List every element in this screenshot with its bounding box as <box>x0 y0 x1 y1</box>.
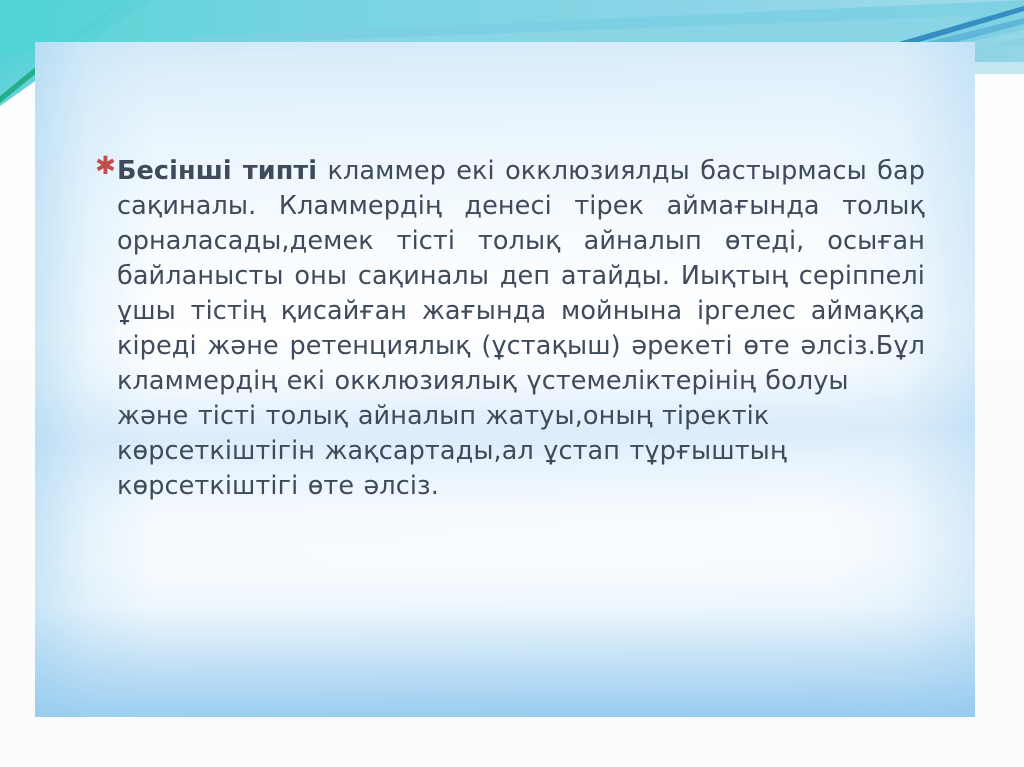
lead-term: Бесінші типті <box>117 156 317 186</box>
slide-canvas: ✱ Бесінші типті кламмер екі окклюзиялды … <box>0 0 1024 767</box>
slide-content-panel: ✱ Бесінші типті кламмер екі окклюзиялды … <box>35 42 975 717</box>
asterisk-bullet-icon: ✱ <box>95 154 116 179</box>
paragraph-main: Бесінші типті кламмер екі окклюзиялды ба… <box>117 154 925 399</box>
panel-bottom-tint <box>35 517 975 717</box>
slide-body-text: ✱ Бесінші типті кламмер екі окклюзиялды … <box>95 154 925 504</box>
bullet-list-item: ✱ Бесінші типті кламмер екі окклюзиялды … <box>95 154 925 504</box>
paragraph-tail: және тісті толық айналып жатуы,оның тіре… <box>117 399 925 504</box>
body-text-part1: кламмер екі окклюзиялды бастырмасы бар с… <box>117 156 925 396</box>
